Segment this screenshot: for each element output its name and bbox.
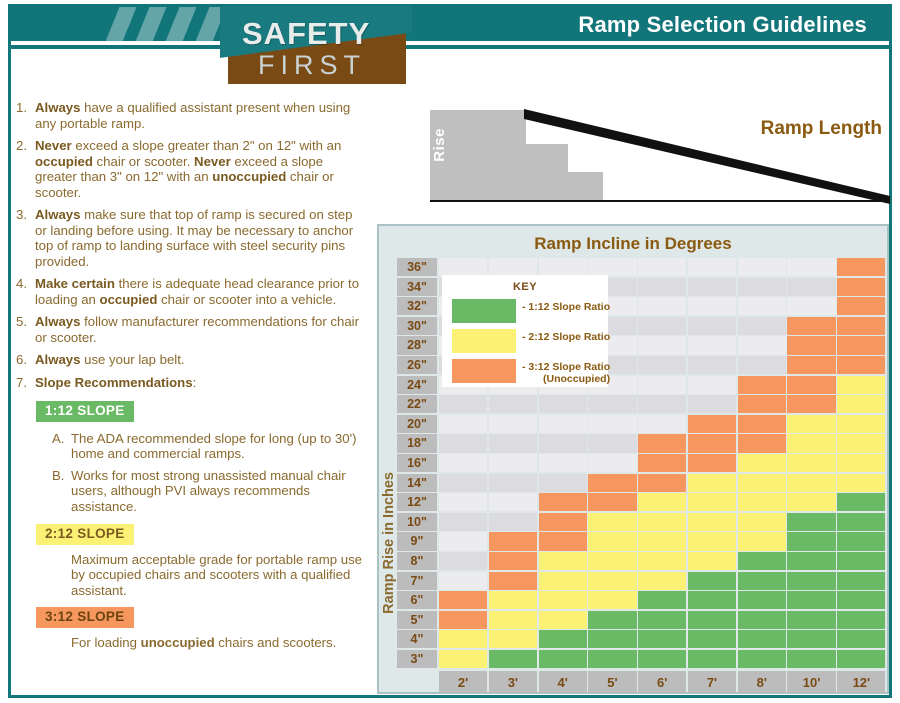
guideline-number: 3. (16, 207, 33, 223)
chart-cell (588, 630, 636, 648)
chart-cell (787, 532, 835, 550)
chart-cell (837, 454, 885, 472)
chart-cell (688, 434, 736, 452)
chart-cell (439, 611, 487, 629)
chart-cell (489, 474, 537, 492)
chart-cell (638, 454, 686, 472)
chart-cell (688, 591, 736, 609)
chart-cell (688, 356, 736, 374)
chart-cell (638, 513, 686, 531)
chart-row: 16" (397, 454, 887, 474)
chart-cell (539, 591, 587, 609)
key-sublabel: (Unoccupied) (522, 374, 610, 386)
chart-cell (489, 454, 537, 472)
chart-cell (489, 572, 537, 590)
chart-cell (638, 572, 686, 590)
chart-cell (489, 258, 537, 276)
chart-cell (439, 415, 487, 433)
chart-cell (638, 434, 686, 452)
chart-cell (837, 474, 885, 492)
chart-row: 6" (397, 591, 887, 611)
ramp-ground-line (430, 200, 890, 202)
chart-cell (638, 356, 686, 374)
chart-row-label: 9" (397, 532, 437, 550)
slope-detail-text: Works for most strong unassisted manual … (71, 468, 346, 514)
chart-row: 18" (397, 434, 887, 454)
chart-cell (489, 415, 537, 433)
chart-cell (439, 493, 487, 511)
chart-cell (738, 630, 786, 648)
chart-cell (688, 552, 736, 570)
chart-cell (588, 454, 636, 472)
chart-row: 14" (397, 474, 887, 494)
key-label: - 2:12 Slope Ratio (522, 332, 610, 344)
chart-cell (638, 297, 686, 315)
chart-cell (489, 552, 537, 570)
slope-badge: 2:12 SLOPE (36, 524, 134, 545)
chart-column-label: 2' (439, 671, 487, 693)
slope-detail-letter: A. (52, 431, 70, 447)
chart-cell (489, 395, 537, 413)
chart-row: 7" (397, 572, 887, 592)
chart-cell (439, 258, 487, 276)
chart-cell (837, 650, 885, 668)
chart-cell (738, 454, 786, 472)
chart-cell (439, 434, 487, 452)
chart-cell (688, 474, 736, 492)
chart-cell (539, 630, 587, 648)
chart-column-label: 10' (787, 671, 835, 693)
chart-cell (787, 552, 835, 570)
ramp-slope-graphic (390, 100, 890, 212)
chart-cell (787, 513, 835, 531)
chart-cell (837, 336, 885, 354)
chart-cell (787, 278, 835, 296)
chart-cell (787, 591, 835, 609)
chart-cell (837, 376, 885, 394)
chart-row-label: 24" (397, 376, 437, 394)
chart-cell (539, 611, 587, 629)
slope-badge: 1:12 SLOPE (36, 401, 134, 422)
chart-column-label: 3' (489, 671, 537, 693)
chart-cell (588, 395, 636, 413)
chart-y-axis-label: Ramp Rise in Inches (381, 472, 397, 614)
chart-cell (638, 532, 686, 550)
chart-cell (837, 532, 885, 550)
chart-cell (588, 474, 636, 492)
chart-cell (787, 474, 835, 492)
ramp-diagram: Rise Ramp Length (390, 100, 890, 212)
chart-cell (439, 650, 487, 668)
guideline-text: Always use your lap belt. (35, 352, 185, 367)
chart-cell (588, 611, 636, 629)
chart-row-label: 26" (397, 356, 437, 374)
guideline-item: 5.Always follow manufacturer recommendat… (16, 314, 366, 345)
chart-row-label: 7" (397, 572, 437, 590)
guidelines-list: 1.Always have a qualified assistant pres… (16, 100, 366, 695)
chart-cell (638, 317, 686, 335)
chart-header-spacer (397, 671, 437, 693)
guideline-text: Always make sure that top of ramp is sec… (35, 207, 353, 269)
chart-cell (738, 415, 786, 433)
ramp-length-label: Ramp Length (761, 118, 882, 140)
chart-cell (837, 317, 885, 335)
chart-cell (738, 532, 786, 550)
chart-cell (837, 630, 885, 648)
chart-cell (588, 434, 636, 452)
key-entry: - 3:12 Slope Ratio(Unoccupied) (452, 359, 600, 383)
chart-cell (489, 532, 537, 550)
chart-cell (439, 395, 487, 413)
chart-row-label: 30" (397, 317, 437, 335)
chart-row-label: 10" (397, 513, 437, 531)
chart-cell (638, 376, 686, 394)
chart-row: 12" (397, 493, 887, 513)
chart-cell (787, 395, 835, 413)
chart-cell (688, 278, 736, 296)
chart-cell (588, 591, 636, 609)
safety-first-logo: SAFETY FIRST (220, 6, 412, 88)
chart-cell (489, 493, 537, 511)
chart-column-label: 6' (638, 671, 686, 693)
chart-cell (738, 297, 786, 315)
chart-cell (638, 630, 686, 648)
key-entry: - 1:12 Slope Ratio (452, 299, 600, 323)
guideline-number: 4. (16, 276, 33, 292)
chart-cell (738, 376, 786, 394)
chart-cell (688, 297, 736, 315)
chart-row-label: 12" (397, 493, 437, 511)
chart-cell (787, 356, 835, 374)
logo-text-first: FIRST (258, 50, 366, 81)
chart-cell (837, 572, 885, 590)
chart-column-label: 5' (588, 671, 636, 693)
chart-column-label: 7' (688, 671, 736, 693)
chart-cell (787, 336, 835, 354)
guideline-number: 6. (16, 352, 33, 368)
chart-row-label: 14" (397, 474, 437, 492)
chart-row-label: 5" (397, 611, 437, 629)
chart-cell (738, 258, 786, 276)
slope-detail: B.Works for most strong unassisted manua… (16, 468, 366, 515)
chart-row: 5" (397, 611, 887, 631)
chart-cell (638, 493, 686, 511)
chart-cell (489, 611, 537, 629)
chart-cell (638, 611, 686, 629)
guideline-number: 5. (16, 314, 33, 330)
chart-cell (439, 591, 487, 609)
chart-cell (439, 572, 487, 590)
chart-cell (688, 611, 736, 629)
guideline-item: 3.Always make sure that top of ramp is s… (16, 207, 366, 269)
key-color-swatch (452, 359, 516, 383)
chart-row: 9" (397, 532, 887, 552)
chart-cell (688, 258, 736, 276)
guideline-item: 4.Make certain there is adequate head cl… (16, 276, 366, 307)
slope-detail: For loading unoccupied chairs and scoote… (16, 635, 366, 651)
chart-cell (539, 493, 587, 511)
chart-cell (837, 297, 885, 315)
chart-cell (688, 317, 736, 335)
chart-cell (439, 552, 487, 570)
chart-cell (539, 258, 587, 276)
header-bar: Ramp Selection Guidelines (11, 7, 889, 45)
header-stripe-2 (129, 7, 169, 45)
chart-cell (688, 376, 736, 394)
chart-cell (738, 434, 786, 452)
chart-cell (787, 630, 835, 648)
chart-cell (688, 454, 736, 472)
chart-cell (837, 415, 885, 433)
header-underline (11, 45, 889, 49)
guideline-item: 6.Always use your lap belt. (16, 352, 366, 368)
chart-cell (688, 650, 736, 668)
chart-cell (638, 474, 686, 492)
guideline-text: Always have a qualified assistant presen… (35, 100, 350, 131)
chart-cell (539, 415, 587, 433)
chart-cell (638, 591, 686, 609)
chart-cell (787, 434, 835, 452)
chart-cell (489, 591, 537, 609)
chart-cell (738, 650, 786, 668)
chart-cell (787, 297, 835, 315)
chart-cell (688, 415, 736, 433)
key-color-swatch (452, 329, 516, 353)
chart-row: 10" (397, 513, 887, 533)
chart-legend-key: KEY - 1:12 Slope Ratio- 2:12 Slope Ratio… (442, 275, 608, 387)
poster-page: Ramp Selection Guidelines SAFETY FIRST 1… (0, 0, 900, 703)
chart-row-label: 32" (397, 297, 437, 315)
chart-cell (787, 493, 835, 511)
chart-cell (688, 572, 736, 590)
chart-row: 4" (397, 630, 887, 650)
chart-cell (738, 395, 786, 413)
chart-cell (588, 552, 636, 570)
chart-cell (738, 513, 786, 531)
chart-row-label: 16" (397, 454, 437, 472)
chart-cell (837, 395, 885, 413)
chart-cell (738, 474, 786, 492)
chart-cell (588, 532, 636, 550)
guideline-number: 7. (16, 375, 33, 391)
slope-detail-text: The ADA recommended slope for long (up t… (71, 431, 356, 462)
chart-cell (638, 415, 686, 433)
chart-row-label: 28" (397, 336, 437, 354)
chart-cell (787, 572, 835, 590)
chart-title: Ramp Incline in Degrees (379, 234, 887, 254)
chart-cell (688, 513, 736, 531)
key-title: KEY (442, 281, 608, 293)
chart-cell (787, 454, 835, 472)
chart-cell (539, 650, 587, 668)
chart-cell (738, 611, 786, 629)
chart-cell (837, 278, 885, 296)
chart-row-label: 6" (397, 591, 437, 609)
chart-cell (539, 395, 587, 413)
chart-cell (588, 572, 636, 590)
chart-cell (489, 630, 537, 648)
chart-cell (539, 552, 587, 570)
chart-row: 22" (397, 395, 887, 415)
chart-cell (588, 493, 636, 511)
guideline-item: 1.Always have a qualified assistant pres… (16, 100, 366, 131)
chart-cell (837, 258, 885, 276)
guideline-number: 2. (16, 138, 33, 154)
chart-row: 8" (397, 552, 887, 572)
chart-cell (837, 611, 885, 629)
guideline-item: 2.Never exceed a slope greater than 2" o… (16, 138, 366, 200)
guideline-text: Slope Recommendations: (35, 375, 196, 390)
slope-badge: 3:12 SLOPE (36, 607, 134, 628)
chart-row-label: 34" (397, 278, 437, 296)
chart-cell (738, 552, 786, 570)
chart-row-label: 18" (397, 434, 437, 452)
chart-cell (588, 415, 636, 433)
chart-cell (588, 513, 636, 531)
guideline-text: Never exceed a slope greater than 2" on … (35, 138, 341, 200)
chart-cell (688, 532, 736, 550)
chart-column-headers: 2'3'4'5'6'7'8'10'12' (397, 671, 887, 693)
chart-cell (539, 454, 587, 472)
chart-cell (837, 552, 885, 570)
chart-cell (837, 434, 885, 452)
key-label: - 3:12 Slope Ratio(Unoccupied) (522, 362, 610, 385)
chart-cell (738, 317, 786, 335)
chart-cell (638, 258, 686, 276)
chart-cell (588, 258, 636, 276)
chart-cell (688, 395, 736, 413)
chart-cell (787, 376, 835, 394)
chart-cell (787, 317, 835, 335)
chart-cell (738, 591, 786, 609)
chart-cell (688, 336, 736, 354)
chart-cell (439, 474, 487, 492)
chart-cell (489, 650, 537, 668)
chart-cell (787, 650, 835, 668)
header-stripe-1 (99, 7, 139, 45)
chart-cell (837, 591, 885, 609)
chart-row-label: 4" (397, 630, 437, 648)
chart-cell (489, 513, 537, 531)
chart-cell (539, 434, 587, 452)
chart-row-label: 22" (397, 395, 437, 413)
chart-cell (638, 336, 686, 354)
chart-cell (688, 630, 736, 648)
chart-cell (738, 278, 786, 296)
chart-cell (738, 336, 786, 354)
chart-cell (738, 356, 786, 374)
chart-cell (439, 630, 487, 648)
chart-cell (439, 532, 487, 550)
chart-cell (539, 572, 587, 590)
slope-detail-letter: B. (52, 468, 70, 484)
chart-cell (539, 513, 587, 531)
chart-row: 3" (397, 650, 887, 670)
chart-cell (787, 415, 835, 433)
chart-cell (588, 650, 636, 668)
chart-column-label: 8' (738, 671, 786, 693)
key-label: - 1:12 Slope Ratio (522, 302, 610, 314)
key-color-swatch (452, 299, 516, 323)
chart-row-label: 36" (397, 258, 437, 276)
chart-cell (489, 434, 537, 452)
chart-cell (638, 552, 686, 570)
chart-cell (837, 513, 885, 531)
slope-detail: Maximum acceptable grade for portable ra… (16, 552, 366, 599)
header-stripe-3 (159, 7, 199, 45)
guideline-item: 7.Slope Recommendations: (16, 375, 366, 391)
chart-cell (787, 258, 835, 276)
chart-row: 20" (397, 415, 887, 435)
page-title: Ramp Selection Guidelines (578, 12, 867, 38)
chart-cell (539, 474, 587, 492)
chart-cell (837, 356, 885, 374)
slope-detail: A.The ADA recommended slope for long (up… (16, 431, 366, 462)
guideline-number: 1. (16, 100, 33, 116)
key-entry: - 2:12 Slope Ratio (452, 329, 600, 353)
chart-row-label: 8" (397, 552, 437, 570)
chart-cell (638, 278, 686, 296)
logo-text-safety: SAFETY (242, 16, 370, 52)
chart-column-label: 4' (539, 671, 587, 693)
chart-cell (738, 572, 786, 590)
chart-row-label: 20" (397, 415, 437, 433)
chart-cell (738, 493, 786, 511)
chart-row-label: 3" (397, 650, 437, 668)
chart-cell (439, 454, 487, 472)
chart-cell (837, 493, 885, 511)
guideline-text: Always follow manufacturer recommendatio… (35, 314, 359, 345)
chart-cell (688, 493, 736, 511)
chart-column-label: 12' (837, 671, 885, 693)
chart-cell (638, 650, 686, 668)
guideline-text: Make certain there is adequate head clea… (35, 276, 359, 307)
chart-cell (638, 395, 686, 413)
chart-cell (439, 513, 487, 531)
chart-cell (539, 532, 587, 550)
chart-cell (787, 611, 835, 629)
